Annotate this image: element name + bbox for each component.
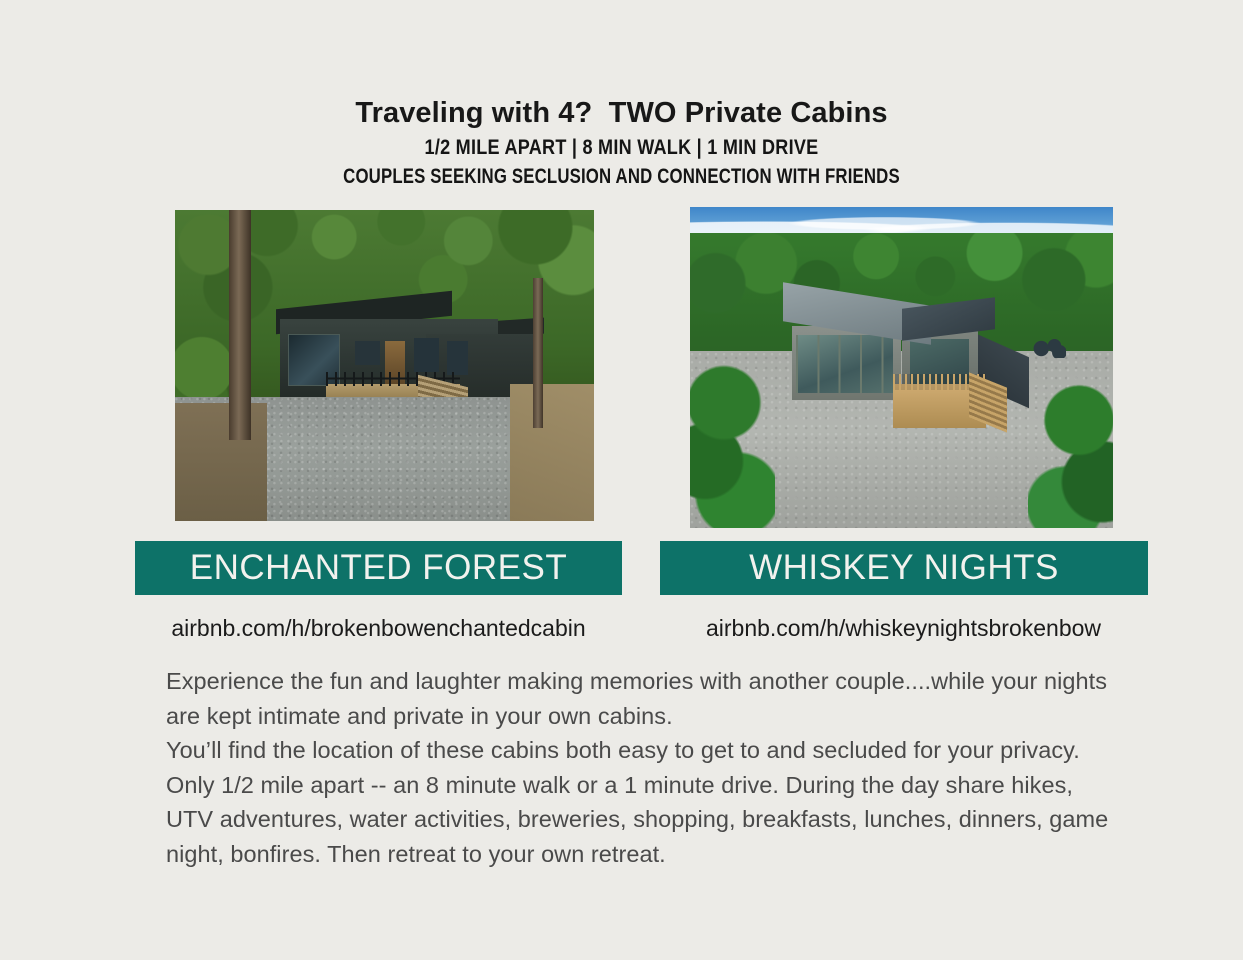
- photo-cabin-window-right: [447, 341, 468, 375]
- photo-ground-right: [510, 384, 594, 521]
- page-subtitle-distance: 1/2 MILE APART | 8 MIN WALK | 1 MIN DRIV…: [87, 134, 1156, 161]
- description-block: Experience the fun and laughter making m…: [166, 664, 1126, 871]
- description-paragraph-1: Experience the fun and laughter making m…: [166, 664, 1126, 733]
- description-paragraph-2: You’ll find the location of these cabins…: [166, 733, 1126, 768]
- photo-tree-trunk-right: [533, 278, 543, 427]
- photo-tree-trunk-foreground: [229, 210, 251, 440]
- banner-whiskey-nights: WHISKEY NIGHTS: [660, 541, 1148, 595]
- page-title: Traveling with 4? TWO Private Cabins: [0, 96, 1243, 130]
- photo-foreground-tree-right: [1028, 374, 1113, 528]
- page-subtitle-audience: COUPLES SEEKING SECLUSION AND CONNECTION…: [124, 163, 1118, 190]
- banner-enchanted-forest: ENCHANTED FOREST: [135, 541, 622, 595]
- heading-block: Traveling with 4? TWO Private Cabins 1/2…: [0, 96, 1243, 190]
- photo-cabin-window-upper: [355, 341, 380, 366]
- photo-cabin-window-mid: [414, 338, 439, 372]
- cabin-photo-enchanted-forest: [175, 210, 594, 521]
- photo-ground-left: [175, 403, 267, 521]
- photo-cabin-window-wall: [796, 335, 893, 393]
- cabin-photo-whiskey-nights: [690, 207, 1113, 528]
- flyer-page: { "background_color": "#ecebe7", "accent…: [0, 0, 1243, 960]
- listing-url-enchanted-forest[interactable]: airbnb.com/h/brokenbowenchantedcabin: [120, 613, 637, 643]
- listing-url-whiskey-nights[interactable]: airbnb.com/h/whiskeynightsbrokenbow: [645, 613, 1162, 643]
- banner-label: WHISKEY NIGHTS: [749, 549, 1059, 587]
- photo-adirondack-chairs: [1033, 339, 1067, 358]
- banner-label: ENCHANTED FOREST: [190, 549, 567, 587]
- photo-foreground-tree-left: [690, 361, 775, 528]
- description-paragraph-3: Only 1/2 mile apart -- an 8 minute walk …: [166, 768, 1126, 872]
